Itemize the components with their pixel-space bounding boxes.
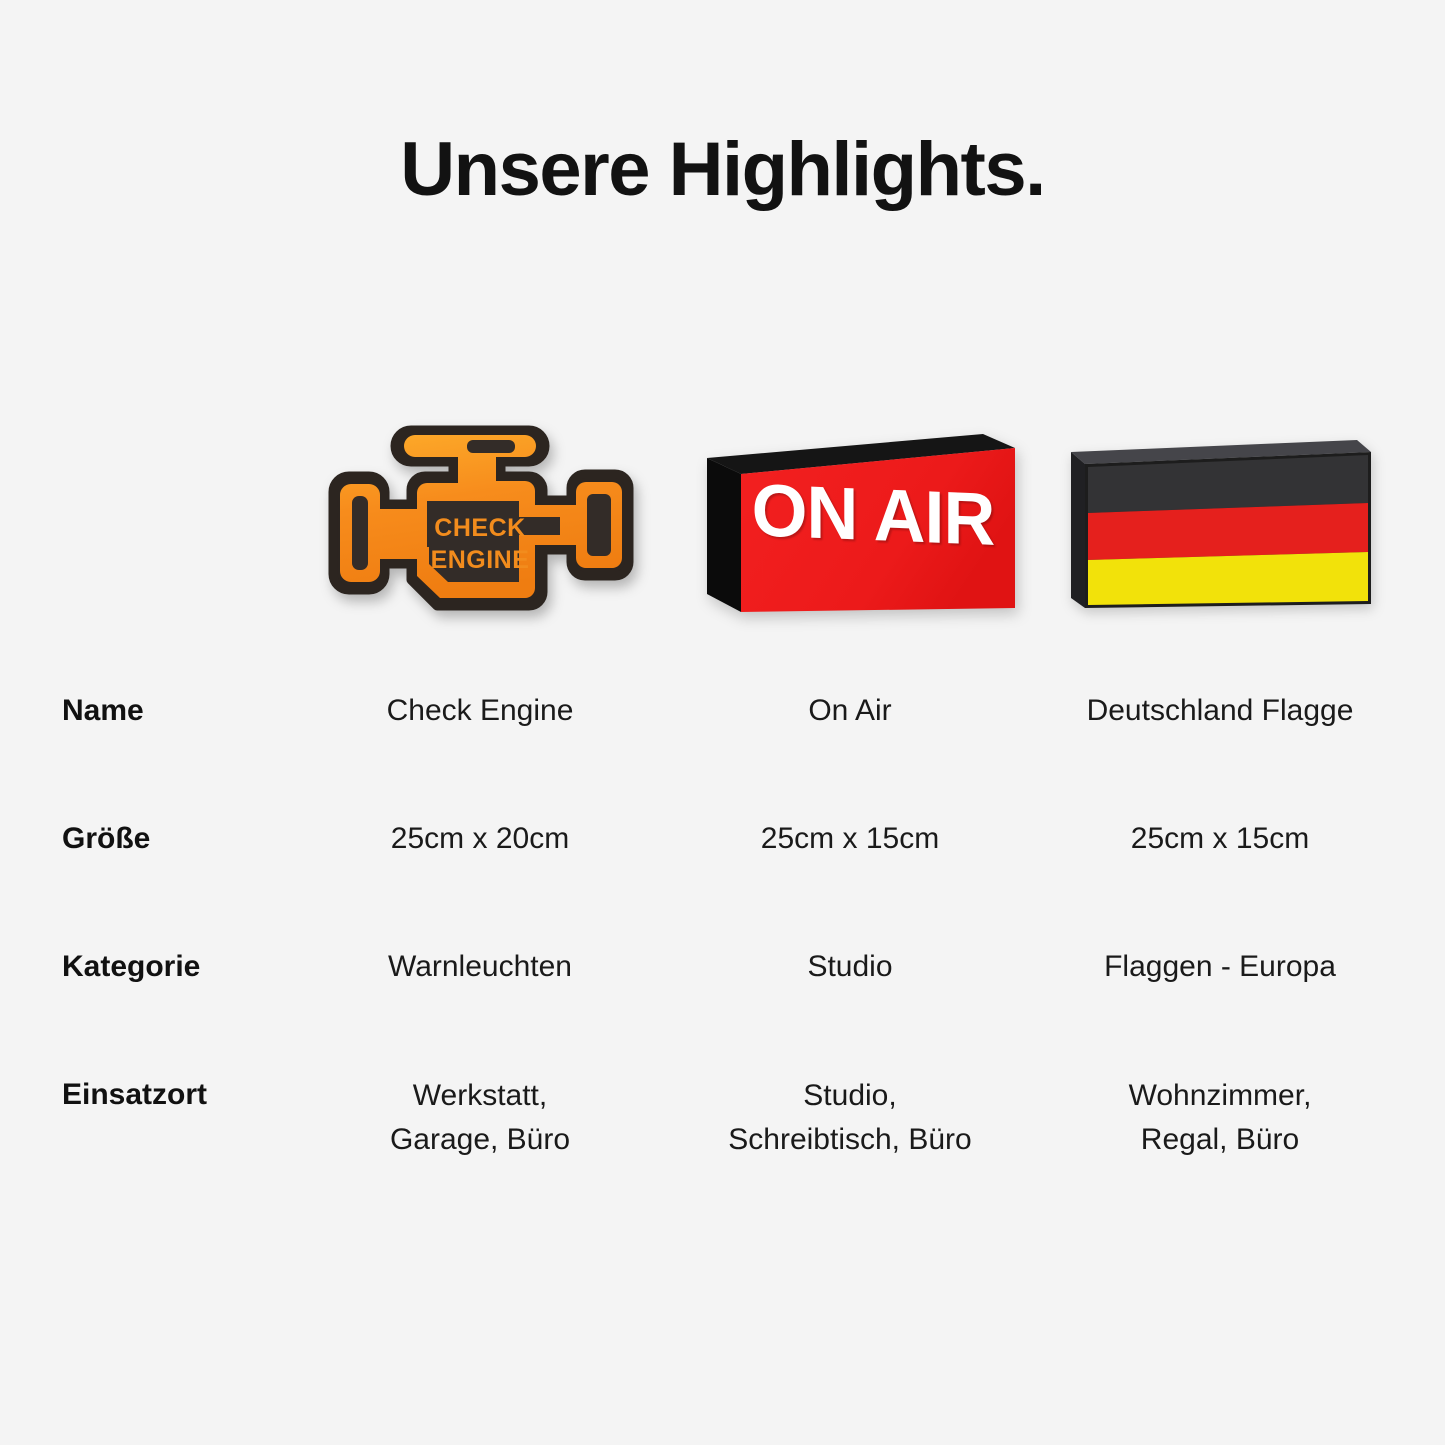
page-title: Unsere Highlights. [0, 132, 1445, 208]
table-row: Einsatzort Werkstatt, Garage, Büro Studi… [0, 1074, 1445, 1244]
product-image-row: CHECK ENGINE [0, 408, 1445, 658]
cell-line-2: Regal, Büro [1035, 1118, 1405, 1162]
cell-line-1: Wohnzimmer, [1035, 1074, 1405, 1118]
flag-band-gold [1088, 552, 1368, 605]
on-air-front-face [741, 448, 1015, 612]
deutschland-flagge-lightbox-icon [1057, 430, 1377, 625]
product-image-on-air[interactable]: ON AIR [665, 408, 1035, 658]
engine-left-notch [352, 496, 368, 570]
cell-groesse-check-engine: 25cm x 20cm [295, 818, 665, 861]
cell-name-check-engine: Check Engine [295, 690, 665, 733]
cell-groesse-deutschland-flagge: 25cm x 15cm [1035, 818, 1405, 861]
flag-band-red [1088, 503, 1368, 560]
on-air-lightbox-icon: ON AIR [683, 426, 1023, 636]
flag-side-face [1071, 452, 1085, 608]
cell-einsatzort-on-air: Studio, Schreibtisch, Büro [665, 1074, 1035, 1161]
row-label-kategorie: Kategorie [0, 946, 295, 989]
cell-name-on-air: On Air [665, 690, 1035, 733]
cell-line-2: Garage, Büro [295, 1118, 665, 1162]
engine-right-notch [587, 494, 611, 556]
table-row: Kategorie Warnleuchten Studio Flaggen - … [0, 946, 1445, 1074]
cell-name-deutschland-flagge: Deutschland Flagge [1035, 690, 1405, 733]
cell-kategorie-deutschland-flagge: Flaggen - Europa [1035, 946, 1405, 989]
spec-table: Name Check Engine On Air Deutschland Fla… [0, 690, 1445, 1244]
cell-line-1: Studio, [665, 1074, 1035, 1118]
check-engine-icon: CHECK ENGINE [315, 416, 645, 646]
table-row: Größe 25cm x 20cm 25cm x 15cm 25cm x 15c… [0, 818, 1445, 946]
cell-kategorie-check-engine: Warnleuchten [295, 946, 665, 989]
product-image-deutschland-flagge[interactable] [1035, 408, 1405, 658]
row-label-einsatzort: Einsatzort [0, 1074, 295, 1117]
row-label-name: Name [0, 690, 295, 733]
cell-line-1: Werkstatt, [295, 1074, 665, 1118]
cell-einsatzort-check-engine: Werkstatt, Garage, Büro [295, 1074, 665, 1161]
cell-kategorie-on-air: Studio [665, 946, 1035, 989]
on-air-side-face [707, 458, 741, 612]
table-row: Name Check Engine On Air Deutschland Fla… [0, 690, 1445, 818]
engine-top-notch [467, 440, 515, 453]
product-image-check-engine[interactable]: CHECK ENGINE [295, 408, 665, 658]
cell-einsatzort-deutschland-flagge: Wohnzimmer, Regal, Büro [1035, 1074, 1405, 1161]
cell-groesse-on-air: 25cm x 15cm [665, 818, 1035, 861]
row-label-groesse: Größe [0, 818, 295, 861]
cell-line-2: Schreibtisch, Büro [665, 1118, 1035, 1162]
